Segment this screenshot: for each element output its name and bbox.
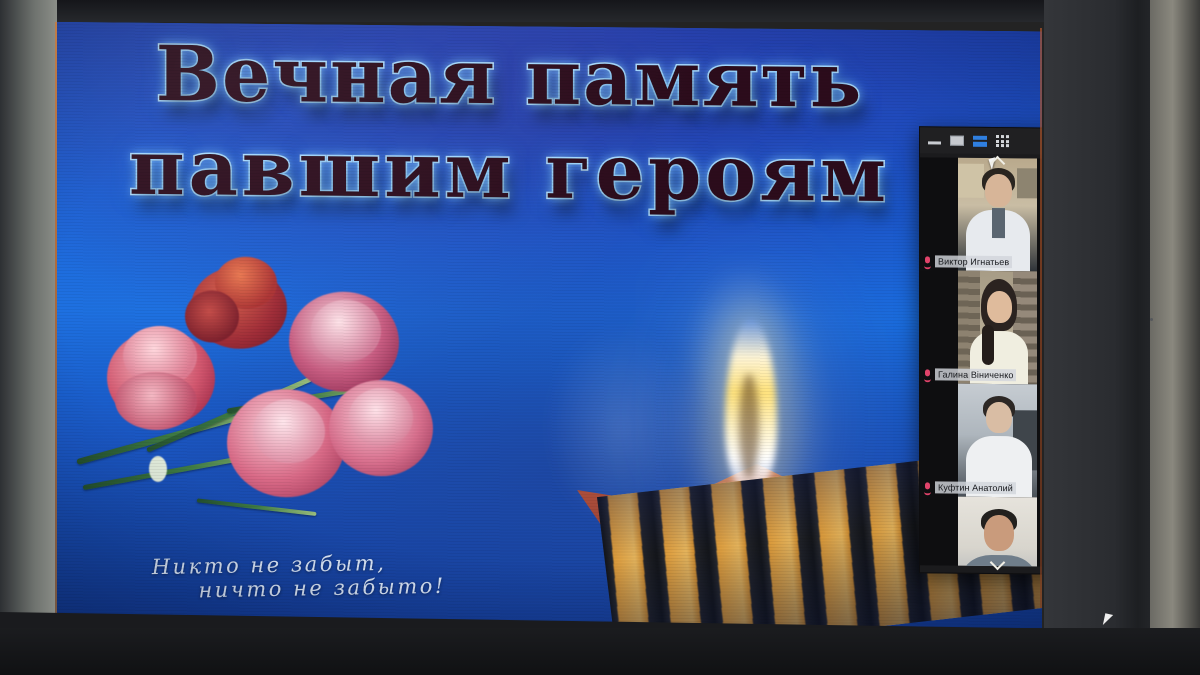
rows-view-icon[interactable] xyxy=(973,135,987,146)
scroll-down-button[interactable] xyxy=(920,552,1042,571)
monitor-bezel-top xyxy=(0,0,1200,22)
mic-muted-icon xyxy=(924,369,931,380)
participant-video xyxy=(958,384,1037,498)
participant-name: Виктор Игнатьев xyxy=(935,255,1012,268)
participant-name-badge: Виктор Игнатьев xyxy=(924,255,1012,268)
maximize-icon[interactable] xyxy=(950,136,964,146)
presentation-slide: Вечная память павшим героям xyxy=(57,22,1042,631)
mic-muted-icon xyxy=(924,482,931,493)
participant-tile[interactable]: Куфтин Анатолий xyxy=(920,383,1042,497)
participant-name-badge: Куфтин Анатолий xyxy=(924,481,1016,494)
participant-name: Куфтин Анатолий xyxy=(935,481,1016,494)
monitor-bezel-bottom xyxy=(0,628,1200,675)
grid-view-icon[interactable] xyxy=(996,135,1009,147)
participant-name-badge: Галина Віниченко xyxy=(924,368,1016,381)
participant-tile[interactable]: Виктор Игнатьев xyxy=(920,157,1042,271)
monitor-screen: Вечная память павшим героям xyxy=(57,22,1042,631)
participant-tile[interactable]: Галина Віниченко xyxy=(920,270,1042,384)
mic-muted-icon xyxy=(924,256,931,267)
participant-list[interactable]: Виктор Игнатьев xyxy=(920,157,1042,566)
background-wall xyxy=(1150,0,1200,675)
monitor-sensor-dot xyxy=(1150,318,1153,321)
video-panel-toolbar xyxy=(920,127,1042,154)
screen-edge-highlight-right xyxy=(1040,28,1042,608)
chevron-down-icon xyxy=(990,554,1006,570)
participant-video xyxy=(958,271,1037,385)
monitor-bezel-left xyxy=(0,0,57,675)
scroll-up-button[interactable] xyxy=(920,153,1042,172)
participant-name: Галина Віниченко xyxy=(935,368,1016,381)
participant-video xyxy=(958,158,1037,272)
video-conference-panel[interactable]: Виктор Игнатьев xyxy=(919,126,1042,575)
screen-edge-highlight xyxy=(55,22,57,622)
chevron-up-icon xyxy=(990,155,1006,171)
monitor-photo: Вечная память павшим героям xyxy=(0,0,1200,675)
minimize-icon[interactable] xyxy=(928,141,941,144)
